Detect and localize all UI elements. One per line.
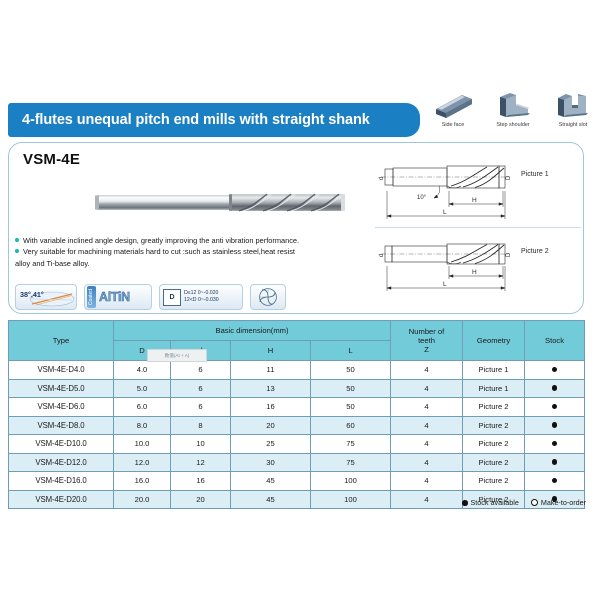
table-row[interactable]: VSM-4E-D16.016.016451004Picture 2 — [9, 472, 585, 491]
cell-geometry: Picture 2 — [463, 416, 525, 435]
legend-stock-available: Stock available — [462, 498, 519, 507]
cell-geometry: Picture 2 — [463, 472, 525, 491]
cell-geometry: Picture 2 — [463, 453, 525, 472]
cell-type: VSM-4E-D20.0 — [9, 490, 114, 509]
feature-text: With variable inclined angle design, gre… — [23, 236, 299, 245]
cell-d: 16 — [171, 472, 231, 491]
dim-H-label: H — [472, 269, 477, 276]
cell-D: 8.0 — [114, 416, 171, 435]
col-header-stock: Stock — [525, 321, 585, 361]
coated-tag: Coated — [87, 286, 96, 308]
cell-L: 50 — [311, 398, 391, 417]
filled-dot-icon — [552, 459, 558, 465]
page-title: 4-flutes unequal pitch end mills with st… — [8, 112, 370, 128]
cell-D: 12.0 — [114, 453, 171, 472]
cell-H: 45 — [231, 490, 311, 509]
teeth-line-3: Z — [391, 345, 462, 354]
cell-type: VSM-4E-D5.0 — [9, 379, 114, 398]
cell-L: 75 — [311, 435, 391, 454]
dim-L-label: L — [443, 209, 447, 216]
dim-H-label: H — [472, 197, 477, 204]
cell-stock — [525, 453, 585, 472]
filled-dot-icon — [462, 500, 468, 506]
col-header-basic-dimension: Basic dimension(mm) — [114, 321, 391, 341]
dim-d-label: d — [379, 177, 385, 180]
picture-1-label: Picture 1 — [521, 171, 549, 178]
table-header: Type Basic dimension(mm) Number of teeth… — [9, 321, 585, 361]
cell-d: 10 — [171, 435, 231, 454]
cell-D: 20.0 — [114, 490, 171, 509]
cell-geometry: Picture 2 — [463, 435, 525, 454]
stock-legend: Stock available Make-to-order — [462, 498, 586, 507]
cell-H: 13 — [231, 379, 311, 398]
cell-teeth: 4 — [391, 472, 463, 491]
filled-dot-icon — [552, 367, 558, 373]
operation-label: Step shoulder — [488, 122, 538, 128]
coated-label: Coated — [89, 289, 95, 305]
end-view-cross-section-icon — [256, 286, 280, 308]
cell-H: 25 — [231, 435, 311, 454]
filled-dot-icon — [552, 478, 558, 484]
spec-badges: 38°,41° Coated AlTiN D D≤12 0~-0.020 12<… — [15, 283, 286, 311]
filled-dot-icon — [552, 385, 558, 391]
cell-stock — [525, 361, 585, 380]
straight-slot-icon — [552, 91, 594, 121]
table-row[interactable]: VSM-4E-D12.012.01230754Picture 2 — [9, 453, 585, 472]
cell-d: 12 — [171, 453, 231, 472]
cell-D: 4.0 — [114, 361, 171, 380]
cell-D: 16.0 — [114, 472, 171, 491]
bullet-icon — [15, 238, 19, 242]
header-banner-row: 4-flutes unequal pitch end mills with st… — [0, 103, 600, 137]
cell-H: 45 — [231, 472, 311, 491]
cell-d: 6 — [171, 398, 231, 417]
open-dot-icon — [531, 499, 538, 506]
col-header-geometry: Geometry — [463, 321, 525, 361]
specification-table: Type Basic dimension(mm) Number of teeth… — [8, 320, 585, 509]
feature-item: With variable inclined angle design, gre… — [15, 235, 375, 246]
cell-L: 50 — [311, 379, 391, 398]
badge-tolerance: D D≤12 0~-0.020 12<D 0~-0.030 — [159, 284, 243, 310]
col-header-type: Type — [9, 321, 114, 361]
cell-teeth: 4 — [391, 361, 463, 380]
cell-d: 8 — [171, 416, 231, 435]
cell-teeth: 4 — [391, 379, 463, 398]
cell-type: VSM-4E-D16.0 — [9, 472, 114, 491]
col-header-H: H — [231, 341, 311, 361]
dim-L-label: L — [443, 281, 447, 288]
cell-teeth: 4 — [391, 398, 463, 417]
badge-helix-angle: 38°,41° — [15, 284, 77, 310]
cell-d: 6 — [171, 379, 231, 398]
cell-stock — [525, 398, 585, 417]
cell-stock — [525, 416, 585, 435]
table-row[interactable]: VSM-4E-D4.04.0611504Picture 1 — [9, 361, 585, 380]
cell-d: 6 — [171, 361, 231, 380]
coating-name: AlTiN — [99, 290, 130, 304]
cell-L: 50 — [311, 361, 391, 380]
cell-type: VSM-4E-D6.0 — [9, 398, 114, 417]
table-row[interactable]: VSM-4E-D10.010.01025754Picture 2 — [9, 435, 585, 454]
table-row[interactable]: VSM-4E-D5.05.0613504Picture 1 — [9, 379, 585, 398]
cell-teeth: 4 — [391, 435, 463, 454]
badge-coating: Coated AlTiN — [84, 284, 152, 310]
cell-H: 20 — [231, 416, 311, 435]
header-tooltip-overlay: 数值(At + A) — [147, 349, 207, 362]
badge-cross-section — [250, 284, 286, 310]
operation-icons: Side face Step shoulder Straight slot — [428, 91, 598, 137]
cell-D: 5.0 — [114, 379, 171, 398]
cell-L: 100 — [311, 472, 391, 491]
legend-label: Stock available — [471, 498, 519, 507]
picture-2-label: Picture 2 — [521, 248, 549, 255]
cell-H: 11 — [231, 361, 311, 380]
product-panel: VSM-4E — [8, 142, 584, 314]
technical-drawings: 10° d D H L Picture 1 — [375, 153, 581, 308]
cell-geometry: Picture 1 — [463, 379, 525, 398]
teeth-line-1: Number of — [391, 327, 462, 336]
cell-geometry: Picture 2 — [463, 398, 525, 417]
cell-teeth: 4 — [391, 490, 463, 509]
cell-H: 16 — [231, 398, 311, 417]
side-face-icon — [432, 91, 474, 121]
diameter-symbol-icon: D — [163, 289, 181, 306]
feature-item: Very suitable for machining materials ha… — [15, 246, 375, 257]
dim-D-label: D — [506, 175, 512, 180]
cell-H: 30 — [231, 453, 311, 472]
cell-L: 100 — [311, 490, 391, 509]
operation-side-face: Side face — [428, 91, 478, 137]
cell-geometry: Picture 1 — [463, 361, 525, 380]
cell-type: VSM-4E-D10.0 — [9, 435, 114, 454]
cell-D: 6.0 — [114, 398, 171, 417]
drawing-picture-1: 10° d D H L — [377, 155, 527, 225]
col-header-teeth: Number of teeth Z — [391, 321, 463, 361]
cell-stock — [525, 379, 585, 398]
tolerance-values: D≤12 0~-0.020 12<D 0~-0.030 — [184, 290, 219, 304]
drawing-picture-2: d D H L — [377, 233, 527, 295]
product-model: VSM-4E — [23, 151, 80, 168]
cell-L: 75 — [311, 453, 391, 472]
dim-D-label: D — [506, 252, 512, 257]
cell-teeth: 4 — [391, 453, 463, 472]
teeth-line-2: teeth — [391, 336, 462, 345]
step-shoulder-icon — [492, 91, 534, 121]
cell-type: VSM-4E-D8.0 — [9, 416, 114, 435]
legend-make-to-order: Make-to-order — [524, 498, 586, 507]
table-row[interactable]: VSM-4E-D8.08.0820604Picture 2 — [9, 416, 585, 435]
cell-D: 10.0 — [114, 435, 171, 454]
cell-stock — [525, 472, 585, 491]
feature-text: Very suitable for machining materials ha… — [23, 247, 295, 256]
operation-step-shoulder: Step shoulder — [488, 91, 538, 137]
helix-angle-value: 38°,41° — [20, 290, 44, 299]
filled-dot-icon — [552, 441, 558, 447]
feature-text-continued: alloy and Ti-base alloy. — [15, 259, 90, 268]
table-body: VSM-4E-D4.04.0611504Picture 1VSM-4E-D5.0… — [9, 361, 585, 509]
cell-teeth: 4 — [391, 416, 463, 435]
tolerance-line: D≤12 0~-0.020 — [184, 290, 219, 297]
cell-L: 60 — [311, 416, 391, 435]
cell-type: VSM-4E-D4.0 — [9, 361, 114, 380]
cell-stock — [525, 435, 585, 454]
angle-dimension-label: 10° — [417, 195, 427, 201]
bullet-icon — [15, 249, 19, 253]
filled-dot-icon — [552, 404, 558, 410]
tolerance-line: 12<D 0~-0.030 — [184, 297, 219, 304]
product-photo — [91, 188, 351, 218]
operation-label: Straight slot — [548, 122, 598, 128]
cell-type: VSM-4E-D12.0 — [9, 453, 114, 472]
feature-list: With variable inclined angle design, gre… — [15, 235, 375, 269]
filled-dot-icon — [552, 422, 558, 428]
table-row[interactable]: VSM-4E-D6.06.0616504Picture 2 — [9, 398, 585, 417]
cell-d: 20 — [171, 490, 231, 509]
col-header-L: L — [311, 341, 391, 361]
operation-straight-slot: Straight slot — [548, 91, 598, 137]
legend-label: Make-to-order — [541, 498, 586, 507]
drawing-divider — [375, 227, 581, 228]
header-banner: 4-flutes unequal pitch end mills with st… — [8, 103, 420, 137]
operation-label: Side face — [428, 122, 478, 128]
dim-d-label: d — [379, 254, 385, 257]
